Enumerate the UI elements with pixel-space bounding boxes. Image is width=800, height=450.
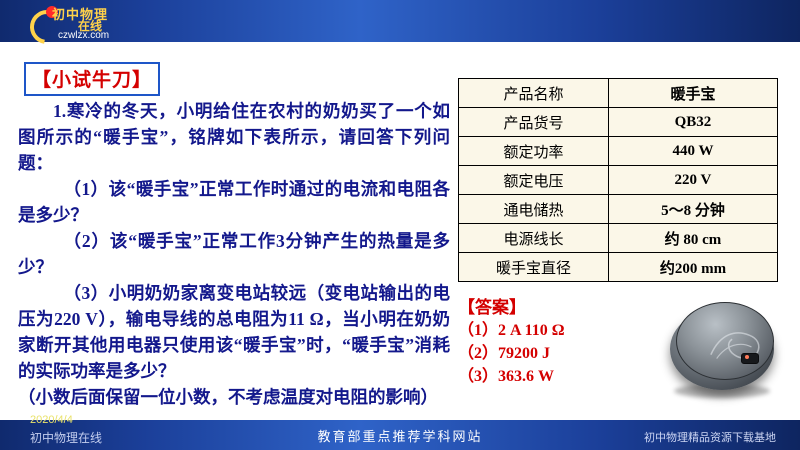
answer-title: 【答案】 — [458, 296, 658, 319]
footer-left-text: 初中物理在线 — [30, 429, 102, 446]
photo-disc-top — [676, 302, 774, 380]
spec-value: 约200 mm — [608, 253, 777, 282]
table-row: 额定功率 440 W — [459, 137, 778, 166]
spec-value: 暖手宝 — [608, 79, 777, 108]
spec-key: 产品货号 — [459, 108, 609, 137]
footer-right-text: 初中物理精品资源下载基地 — [644, 429, 776, 445]
answer-2: （2）79200 J — [458, 342, 658, 365]
spec-key: 暖手宝直径 — [459, 253, 609, 282]
product-photo — [664, 296, 782, 404]
footer-date: 2020/4/4 — [30, 414, 73, 426]
table-row: 产品货号 QB32 — [459, 108, 778, 137]
slide: 初中物理 在线 czwlzx.com 【小试牛刀】 1.寒冷的冬天，小明给住在农… — [0, 0, 800, 450]
spec-value: 5～8 分钟 — [608, 195, 777, 224]
spec-value: 约 80 cm — [608, 224, 777, 253]
spec-key: 额定电压 — [459, 166, 609, 195]
answer-block: 【答案】 （1）2 A 110 Ω （2）79200 J （3）363.6 W — [458, 296, 658, 388]
led-indicator-icon — [745, 355, 749, 359]
spec-key: 产品名称 — [459, 79, 609, 108]
product-spec-table: 产品名称 暖手宝 产品货号 QB32 额定功率 440 W 额定电压 220 V… — [458, 78, 778, 282]
question-note: （小数后面保留一位小数，不考虑温度对电阻的影响） — [18, 384, 450, 410]
spec-value: QB32 — [608, 108, 777, 137]
spec-key: 电源线长 — [459, 224, 609, 253]
spec-value: 220 V — [608, 166, 777, 195]
table-row: 产品名称 暖手宝 — [459, 79, 778, 108]
answer-3: （3）363.6 W — [458, 365, 658, 388]
spec-key: 额定功率 — [459, 137, 609, 166]
table-row: 额定电压 220 V — [459, 166, 778, 195]
spec-key: 通电储热 — [459, 195, 609, 224]
question-intro: 1.寒冷的冬天，小明给住在农村的奶奶买了一个如图所示的“暖手宝”，铭牌如下表所示… — [18, 98, 450, 176]
table-row: 暖手宝直径 约200 mm — [459, 253, 778, 282]
footer-center-text: 教育部重点推荐学科网站 — [317, 426, 482, 445]
question-1: （1）该“暖手宝”正常工作时通过的电流和电阻各是多少？ — [18, 176, 450, 228]
spec-value: 440 W — [608, 137, 777, 166]
site-logo: 初中物理 在线 czwlzx.com — [30, 4, 180, 40]
question-body: 1.寒冷的冬天，小明给住在农村的奶奶买了一个如图所示的“暖手宝”，铭牌如下表所示… — [18, 98, 450, 410]
question-3: （3）小明奶奶家离变电站较远（变电站输出的电压为220 V），输电导线的总电阻为… — [18, 280, 450, 384]
power-button-icon — [741, 353, 759, 364]
question-2: （2）该“暖手宝”正常工作3分钟产生的热量是多少？ — [18, 228, 450, 280]
page-title: 【小试牛刀】 — [24, 62, 160, 96]
logo-url: czwlzx.com — [58, 30, 109, 41]
answer-1: （1）2 A 110 Ω — [458, 319, 658, 342]
table-row: 通电储热 5～8 分钟 — [459, 195, 778, 224]
table-row: 电源线长 约 80 cm — [459, 224, 778, 253]
